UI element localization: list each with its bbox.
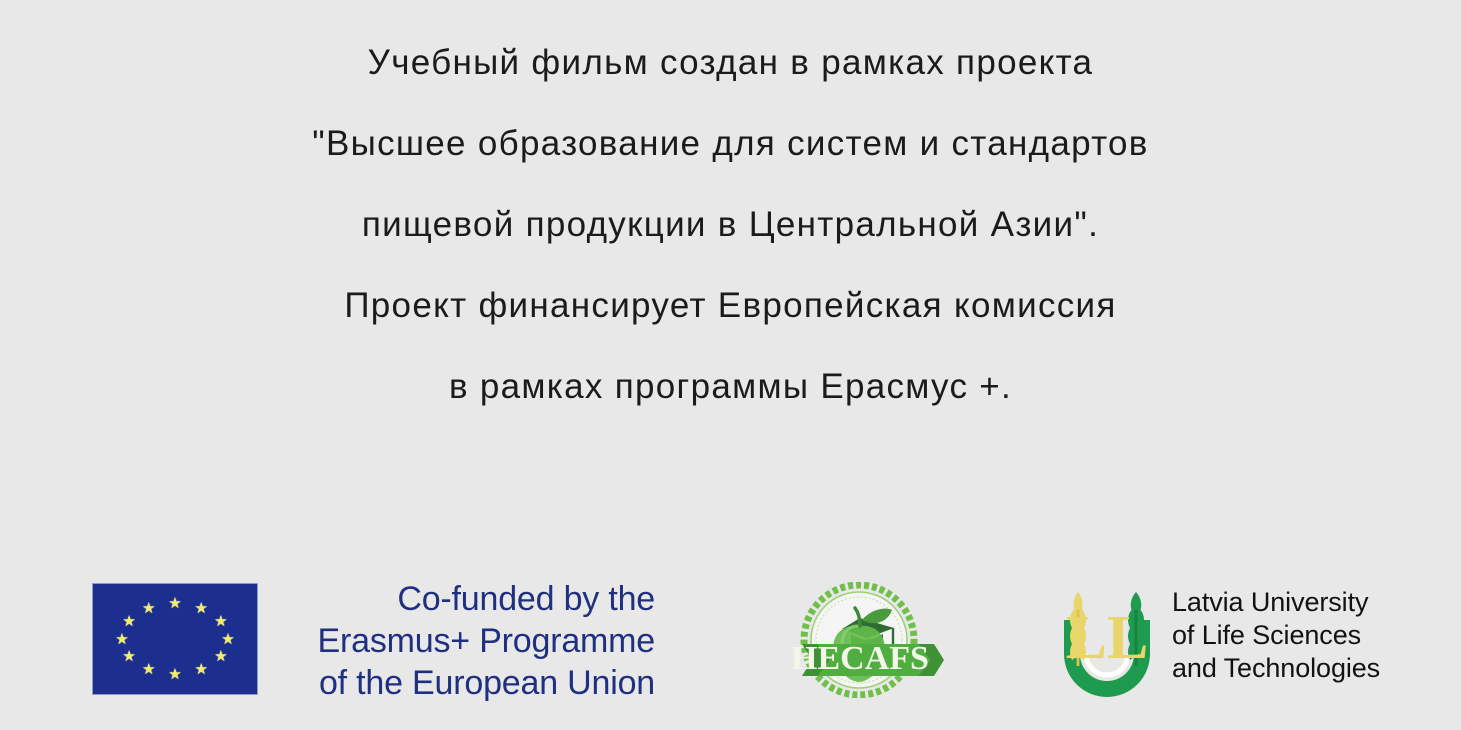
hecafs-logo: HECAFS [772, 582, 947, 698]
llu-line-3: and Technologies [1172, 652, 1380, 685]
eu-flag-logo [92, 583, 258, 695]
european-union-flag-icon [92, 583, 258, 695]
eu-star-8 [141, 662, 156, 677]
eu-star-10 [115, 632, 130, 647]
eu-star-6 [194, 662, 209, 677]
caption-line-1: Учебный фильм создан в рамках проекта [0, 22, 1461, 103]
llu-wordmark: Latvia University of Life Sciences and T… [1172, 586, 1380, 685]
eu-star-4 [220, 632, 235, 647]
credits-slide: Учебный фильм создан в рамках проекта "В… [0, 0, 1461, 730]
eu-star-11 [122, 614, 137, 629]
eu-star-5 [213, 649, 228, 664]
sponsor-logo-strip: Co-funded by the Erasmus+ Programme of t… [0, 560, 1461, 730]
llu-line-2: of Life Sciences [1172, 619, 1380, 652]
llu-monogram: LL [1066, 604, 1149, 672]
llu-emblem-icon: LL [1048, 580, 1166, 698]
hecafs-label: HECAFS [791, 640, 929, 677]
eu-star-7 [168, 667, 183, 682]
eu-star-9 [122, 649, 137, 664]
llu-logo-mark: LL [1048, 580, 1166, 698]
caption-line-2: "Высшее образование для систем и стандар… [0, 103, 1461, 184]
erasmus-programme-wordmark: Co-funded by the Erasmus+ Programme of t… [283, 578, 655, 704]
erasmus-line-3: of the European Union [283, 662, 655, 704]
llu-line-1: Latvia University [1172, 586, 1380, 619]
eu-star-3 [213, 614, 228, 629]
credits-caption: Учебный фильм создан в рамках проекта "В… [0, 22, 1461, 427]
caption-line-4: Проект финансирует Европейская комиссия [0, 265, 1461, 346]
eu-star-1 [168, 596, 183, 611]
hecafs-badge-icon: HECAFS [772, 582, 947, 698]
caption-line-3: пищевой продукции в Центральной Азии". [0, 184, 1461, 265]
eu-star-2 [194, 601, 209, 616]
eu-star-12 [141, 601, 156, 616]
erasmus-line-2: Erasmus+ Programme [283, 620, 655, 662]
caption-line-5: в рамках программы Ерасмус +. [0, 346, 1461, 427]
erasmus-line-1: Co-funded by the [283, 578, 655, 620]
